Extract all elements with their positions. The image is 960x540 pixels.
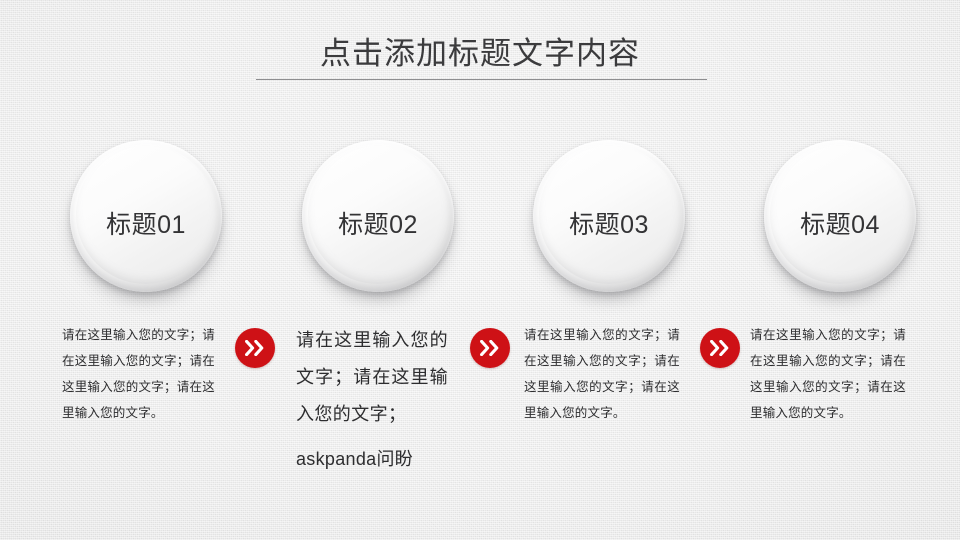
- double-chevron-right-icon: [470, 328, 510, 368]
- body-text-column-2[interactable]: 请在这里输入您的文字；请在这里输入您的文字； askpanda问盼: [296, 322, 448, 476]
- circle-label-3: 标题03: [569, 210, 649, 240]
- slide-canvas: 点击添加标题文字内容 标题01 标题02 标题03 标题04 请在这里输入您的文…: [0, 0, 960, 540]
- double-chevron-right-icon: [700, 328, 740, 368]
- body-text-column-1[interactable]: 请在这里输入您的文字；请在这里输入您的文字；请在这里输入您的文字；请在这里输入您…: [62, 322, 215, 426]
- double-chevron-right-icon: [235, 328, 275, 368]
- body-text-column-4[interactable]: 请在这里输入您的文字；请在这里输入您的文字；请在这里输入您的文字；请在这里输入您…: [750, 322, 906, 426]
- brand-watermark-text: askpanda问盼: [296, 442, 448, 476]
- body-text-2: 请在这里输入您的文字；请在这里输入您的文字；: [296, 330, 448, 424]
- title-underline-divider: [256, 79, 707, 80]
- circle-badge-1[interactable]: 标题01: [70, 140, 222, 292]
- circle-label-4: 标题04: [800, 210, 880, 240]
- body-text-column-3[interactable]: 请在这里输入您的文字；请在这里输入您的文字；请在这里输入您的文字；请在这里输入您…: [524, 322, 680, 426]
- circle-badge-3[interactable]: 标题03: [533, 140, 685, 292]
- circle-label-2: 标题02: [338, 210, 418, 240]
- circle-badge-2[interactable]: 标题02: [302, 140, 454, 292]
- title-block: 点击添加标题文字内容: [0, 34, 960, 74]
- page-title: 点击添加标题文字内容: [0, 34, 960, 74]
- body-text-4: 请在这里输入您的文字；请在这里输入您的文字；请在这里输入您的文字；请在这里输入您…: [750, 328, 906, 420]
- circle-label-1: 标题01: [106, 210, 186, 240]
- body-text-1: 请在这里输入您的文字；请在这里输入您的文字；请在这里输入您的文字；请在这里输入您…: [62, 328, 215, 420]
- body-text-3: 请在这里输入您的文字；请在这里输入您的文字；请在这里输入您的文字；请在这里输入您…: [524, 328, 680, 420]
- circle-badge-4[interactable]: 标题04: [764, 140, 916, 292]
